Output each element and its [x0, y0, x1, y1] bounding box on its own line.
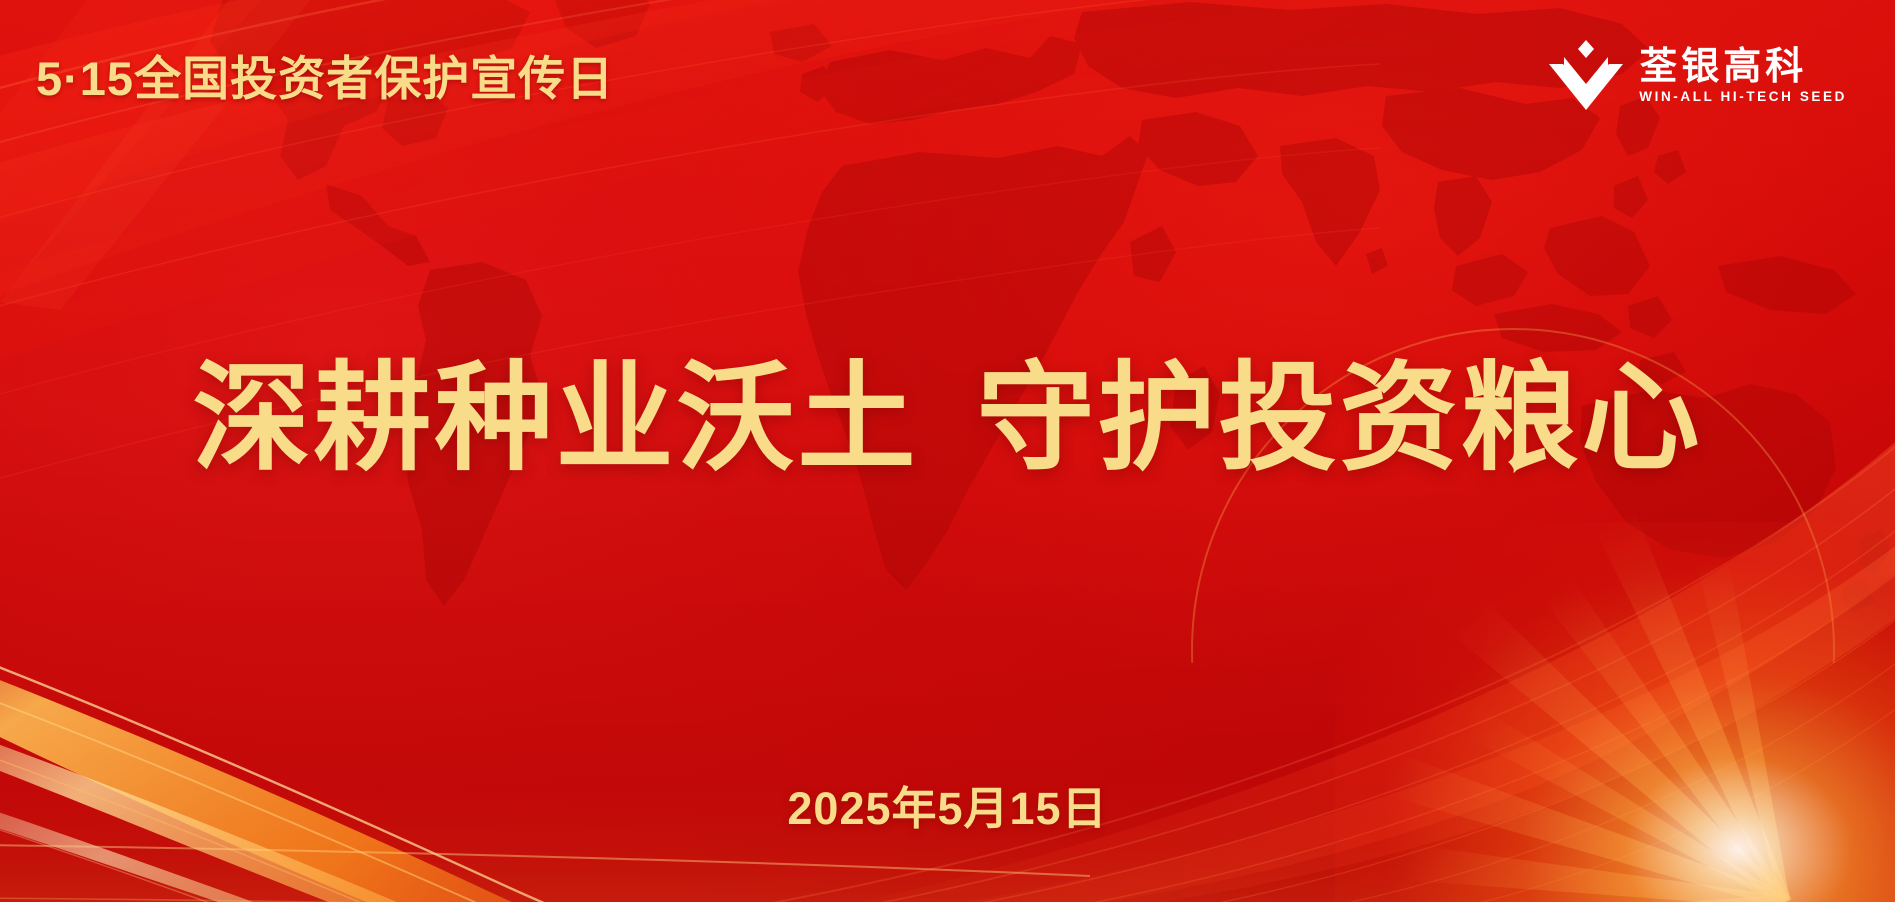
- headline-part-2: 守护投资粮心: [977, 353, 1703, 485]
- headline-part-1: 深耕种业沃土: [192, 353, 918, 485]
- banner-header: 5·15全国投资者保护宣传日 荃银高科 WIN-ALL HI-TECH SEE: [0, 0, 1895, 150]
- event-date: 2025年5月15日: [787, 786, 1107, 831]
- logo-name-cn: 荃银高科: [1639, 48, 1847, 86]
- logo-text-block: 荃银高科 WIN-ALL HI-TECH SEED: [1639, 48, 1847, 104]
- company-logo: 荃银高科 WIN-ALL HI-TECH SEED: [1549, 40, 1847, 112]
- event-title: 5·15全国投资者保护宣传日: [36, 55, 614, 102]
- main-headline: 深耕种业沃土守护投资粮心: [192, 350, 1702, 489]
- logo-name-en: WIN-ALL HI-TECH SEED: [1639, 90, 1847, 104]
- chevron-logo-icon: [1549, 40, 1623, 112]
- headline-block: 深耕种业沃土守护投资粮心: [0, 350, 1895, 489]
- date-block: 2025年5月15日: [0, 786, 1895, 831]
- investor-protection-banner: 5·15全国投资者保护宣传日 荃银高科 WIN-ALL HI-TECH SEE: [0, 0, 1895, 902]
